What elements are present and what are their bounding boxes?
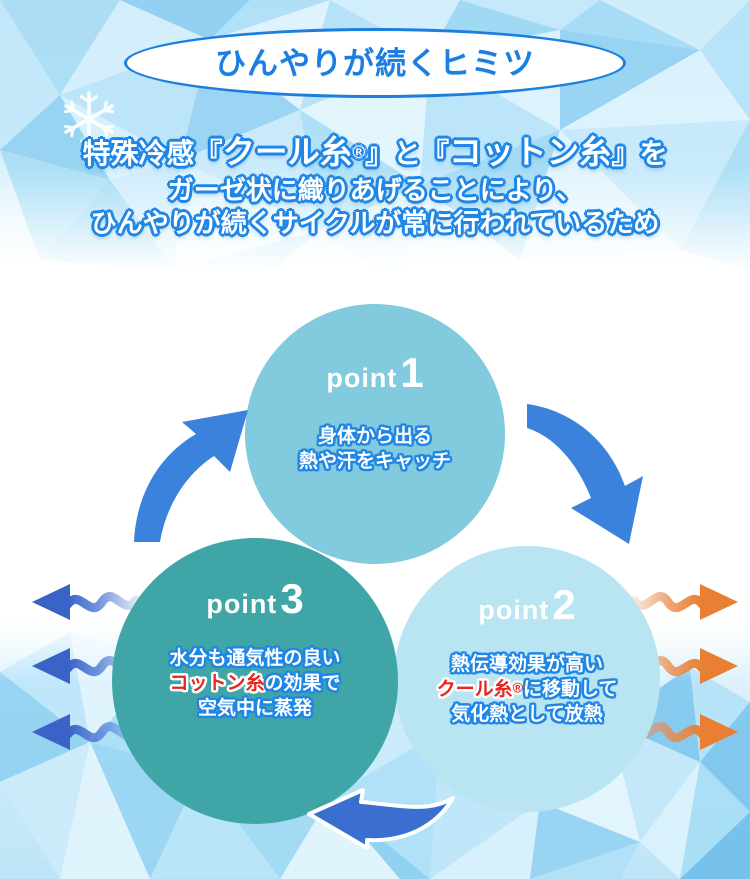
point-1-label-word: point [326,365,397,392]
point-1-description: 身体から出る熱や汗をキャッチ [299,424,451,474]
text-segment: 水分も通気性の良い [169,648,340,669]
point-2-text-line-1: 熱伝導効果が高い [437,652,618,677]
point-1-label-number: 1 [400,352,423,394]
point-2-description: 熱伝導効果が高いクール糸®に移動して気化熱として放熱 [437,652,618,727]
point-3-description: 水分も通気性の良いコットン糸の効果で空気中に蒸発 [169,646,340,721]
point-2-text-line-3: 気化熱として放熱 [437,702,618,727]
point-2-label-word: point [478,597,549,624]
point-1-text-line-2: 熱や汗をキャッチ [299,449,451,474]
point-1-text-line-1: 身体から出る [299,424,451,449]
registered-mark-icon: ® [352,142,365,162]
subtitle-seg-c: 』と『 [365,138,449,169]
point-3-text-line-2: コットン糸の効果で [169,671,340,696]
text-segment: 空気中に蒸発 [198,698,312,719]
curved-arrow-down-icon [525,400,655,550]
page-title: ひんやりが続くヒミツ [215,48,535,79]
point-2-text-line-2: クール糸®に移動して [437,677,618,702]
subtitle-seg-e: 』を [612,138,668,169]
subtitle-block: 特殊冷感『クール糸®』と『コットン糸』を ガーゼ状に織りあげることにより、 ひん… [0,132,750,240]
point-2-circle[interactable]: point 2 熱伝導効果が高いクール糸®に移動して気化熱として放熱 [394,546,660,812]
text-segment: 身体から出る [318,426,432,447]
highlighted-term: コットン糸 [169,673,264,694]
subtitle-seg-cool: クール糸 [222,134,352,170]
point-3-label-word: point [206,591,277,618]
point-3-text-line-3: 空気中に蒸発 [169,696,340,721]
point-1-circle[interactable]: point 1 身体から出る熱や汗をキャッチ [245,304,505,564]
text-segment: 気化熱として放熱 [451,704,602,725]
text-segment: 熱や汗をキャッチ [299,451,451,472]
subtitle-line-2: ガーゼ状に織りあげることにより、 [0,174,750,207]
curved-arrow-up-right-icon [130,400,260,545]
registered-mark-icon: ® [513,680,523,696]
point-2-label-number: 2 [552,584,575,626]
text-segment: の効果で [265,673,341,694]
title-badge: ひんやりが続くヒミツ [124,28,626,98]
subtitle-line-1: 特殊冷感『クール糸®』と『コットン糸』を [0,132,750,174]
text-segment: に移動して [523,679,617,700]
point-3-label: point 3 [206,578,303,620]
subtitle-seg-cotton: コットン糸 [449,134,611,170]
infographic-root: ひんやりが続くヒミツ 特殊冷感『クール糸®』と『コットン糸』を ガーゼ状に織りあ… [0,0,750,879]
subtitle-seg-a: 特殊冷感『 [82,138,222,169]
point-3-circle[interactable]: point 3 水分も通気性の良いコットン糸の効果で空気中に蒸発 [112,538,398,824]
point-1-label: point 1 [326,352,423,394]
point-3-text-line-1: 水分も通気性の良い [169,646,340,671]
point-3-label-number: 3 [280,578,303,620]
subtitle-line-3: ひんやりが続くサイクルが常に行われているため [0,207,750,240]
text-segment: 熱伝導効果が高い [451,654,603,675]
point-2-label: point 2 [478,584,575,626]
highlighted-term: クール糸 [437,679,513,700]
